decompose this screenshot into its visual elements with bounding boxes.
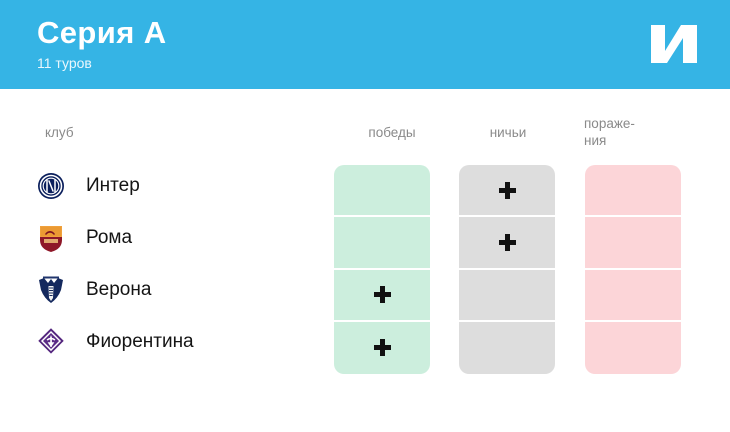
plus-marker bbox=[625, 182, 642, 199]
fiorentina-badge-icon bbox=[36, 326, 66, 358]
infographic-page: Серия А 11 туров клуб победы ничьи пораж… bbox=[0, 0, 730, 432]
standings-table: клуб победы ничьи пораже- ния Интер bbox=[0, 89, 730, 432]
stat-cell-losses-verona[interactable] bbox=[585, 270, 681, 322]
stat-cell-wins-roma[interactable] bbox=[334, 217, 430, 269]
plus-marker bbox=[374, 182, 391, 199]
column-header-losses-line2: ния bbox=[584, 132, 684, 149]
stat-cell-draws-inter[interactable] bbox=[459, 165, 555, 217]
stat-column-losses bbox=[585, 165, 681, 374]
stat-cell-wins-fiorentina[interactable] bbox=[334, 322, 430, 374]
stat-cell-wins-verona[interactable] bbox=[334, 270, 430, 322]
stat-cell-draws-verona[interactable] bbox=[459, 270, 555, 322]
club-name: Рома bbox=[86, 227, 132, 249]
stat-cell-losses-fiorentina[interactable] bbox=[585, 322, 681, 374]
stat-cell-draws-roma[interactable] bbox=[459, 217, 555, 269]
table-row: Фиорентина bbox=[36, 321, 326, 363]
as-roma-badge-icon bbox=[36, 222, 66, 254]
plus-marker bbox=[625, 339, 642, 356]
n-mark-logo-icon bbox=[648, 19, 700, 69]
stat-cell-losses-inter[interactable] bbox=[585, 165, 681, 217]
table-row: Рома bbox=[36, 217, 326, 259]
page-title: Серия А bbox=[37, 14, 167, 52]
hellas-verona-badge-icon bbox=[36, 274, 66, 306]
club-name: Фиорентина bbox=[86, 331, 194, 353]
plus-marker bbox=[499, 182, 516, 199]
column-header-losses-line1: пораже- bbox=[584, 116, 635, 131]
plus-marker bbox=[374, 286, 391, 303]
column-header-draws: ничьи bbox=[460, 124, 556, 141]
header-titles: Серия А 11 туров bbox=[37, 14, 167, 72]
table-row: Интер bbox=[36, 165, 326, 207]
plus-marker bbox=[374, 234, 391, 251]
column-header-club: клуб bbox=[45, 124, 74, 141]
stat-column-wins bbox=[334, 165, 430, 374]
column-header-wins: победы bbox=[344, 124, 440, 141]
table-row: Верона bbox=[36, 269, 326, 311]
plus-marker bbox=[374, 339, 391, 356]
stat-cell-draws-fiorentina[interactable] bbox=[459, 322, 555, 374]
plus-marker bbox=[499, 234, 516, 251]
stat-column-draws bbox=[459, 165, 555, 374]
inter-milan-badge-icon bbox=[36, 170, 66, 202]
stat-cell-wins-inter[interactable] bbox=[334, 165, 430, 217]
stat-cell-losses-roma[interactable] bbox=[585, 217, 681, 269]
page-header: Серия А 11 туров bbox=[0, 0, 730, 89]
column-header-losses: пораже- ния bbox=[584, 115, 684, 149]
page-subtitle: 11 туров bbox=[37, 54, 167, 72]
plus-marker bbox=[499, 286, 516, 303]
club-name: Верона bbox=[86, 279, 151, 301]
club-name: Интер bbox=[86, 175, 140, 197]
plus-marker bbox=[499, 339, 516, 356]
plus-marker bbox=[625, 286, 642, 303]
plus-marker bbox=[625, 234, 642, 251]
